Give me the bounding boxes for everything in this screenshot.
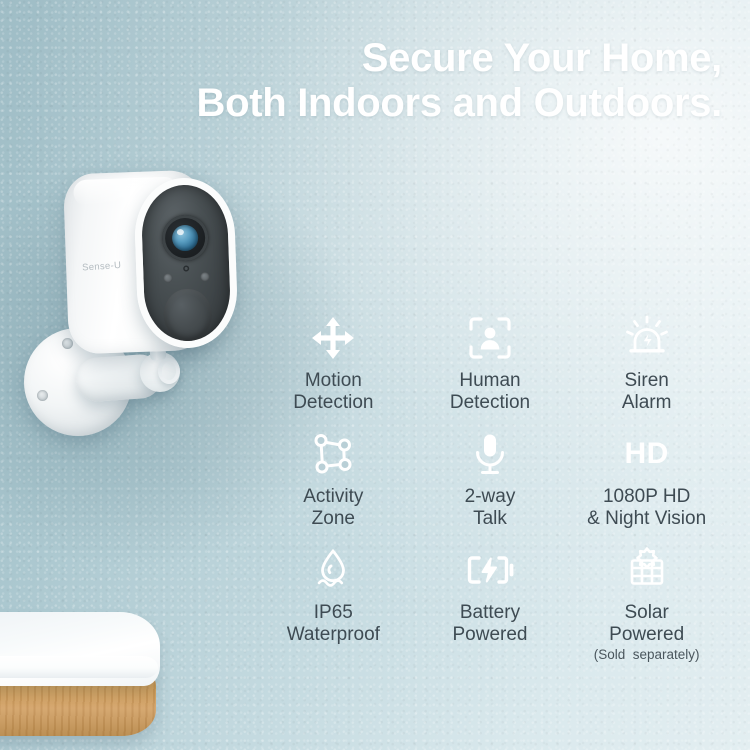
lens-glass — [172, 225, 199, 252]
feature-battery-powered: Battery Powered — [412, 544, 569, 662]
siren-alarm-icon — [624, 312, 670, 364]
screw-hole-icon — [62, 338, 73, 349]
camera-product-image: Sense-U — [18, 160, 258, 450]
battery-charging-icon — [465, 544, 515, 596]
activity-zone-icon — [310, 428, 356, 480]
feature-motion-detection: Motion Detection — [255, 312, 412, 414]
feature-solar-powered: Solar Powered (Sold separately) — [568, 544, 725, 662]
human-detection-icon — [467, 312, 513, 364]
feature-activity-zone: Activity Zone — [255, 428, 412, 530]
feature-label: Motion Detection — [293, 370, 373, 414]
feature-label: Human Detection — [450, 370, 530, 414]
feature-label: 2-way Talk — [465, 486, 516, 530]
bed-mattress-edge — [0, 656, 158, 678]
hd-label: HD — [624, 439, 668, 469]
product-marketing-banner: Secure Your Home, Both Indoors and Outdo… — [0, 0, 750, 750]
ir-led-icon — [163, 273, 172, 282]
solar-panel-icon — [624, 544, 670, 596]
screw-hole-icon — [37, 390, 48, 401]
headline-line-1: Secure Your Home, — [197, 36, 722, 81]
feature-label: 1080P HD & Night Vision — [587, 486, 706, 530]
feature-label: Battery Powered — [452, 602, 527, 646]
feature-siren-alarm: Siren Alarm — [568, 312, 725, 414]
headline-line-2: Both Indoors and Outdoors. — [197, 81, 722, 126]
feature-human-detection: Human Detection — [412, 312, 569, 414]
camera-front-face — [133, 176, 239, 349]
bed-furniture — [0, 612, 188, 750]
ir-led-icon — [200, 272, 209, 281]
feature-grid: Motion Detection Human Detection — [255, 312, 725, 662]
feature-sublabel: (Sold separately) — [594, 647, 700, 662]
feature-label: IP65 Waterproof — [287, 602, 380, 646]
feature-label: Activity Zone — [303, 486, 363, 530]
motion-arrows-icon — [310, 312, 356, 364]
microphone-hole-icon — [185, 267, 188, 270]
hd-text-icon: HD — [624, 428, 668, 480]
pir-motion-sensor — [163, 288, 213, 342]
water-drop-icon — [310, 544, 356, 596]
camera-lens — [161, 214, 209, 262]
feature-ip65-waterproof: IP65 Waterproof — [255, 544, 412, 662]
feature-label: Solar Powered — [609, 602, 684, 646]
feature-hd-night-vision: HD 1080P HD & Night Vision — [568, 428, 725, 530]
brand-logo: Sense-U — [82, 260, 122, 274]
microphone-icon — [467, 428, 513, 480]
page-title: Secure Your Home, Both Indoors and Outdo… — [197, 36, 722, 126]
feature-two-way-talk: 2-way Talk — [412, 428, 569, 530]
feature-label: Siren Alarm — [622, 370, 672, 414]
mount-ring — [158, 358, 180, 384]
